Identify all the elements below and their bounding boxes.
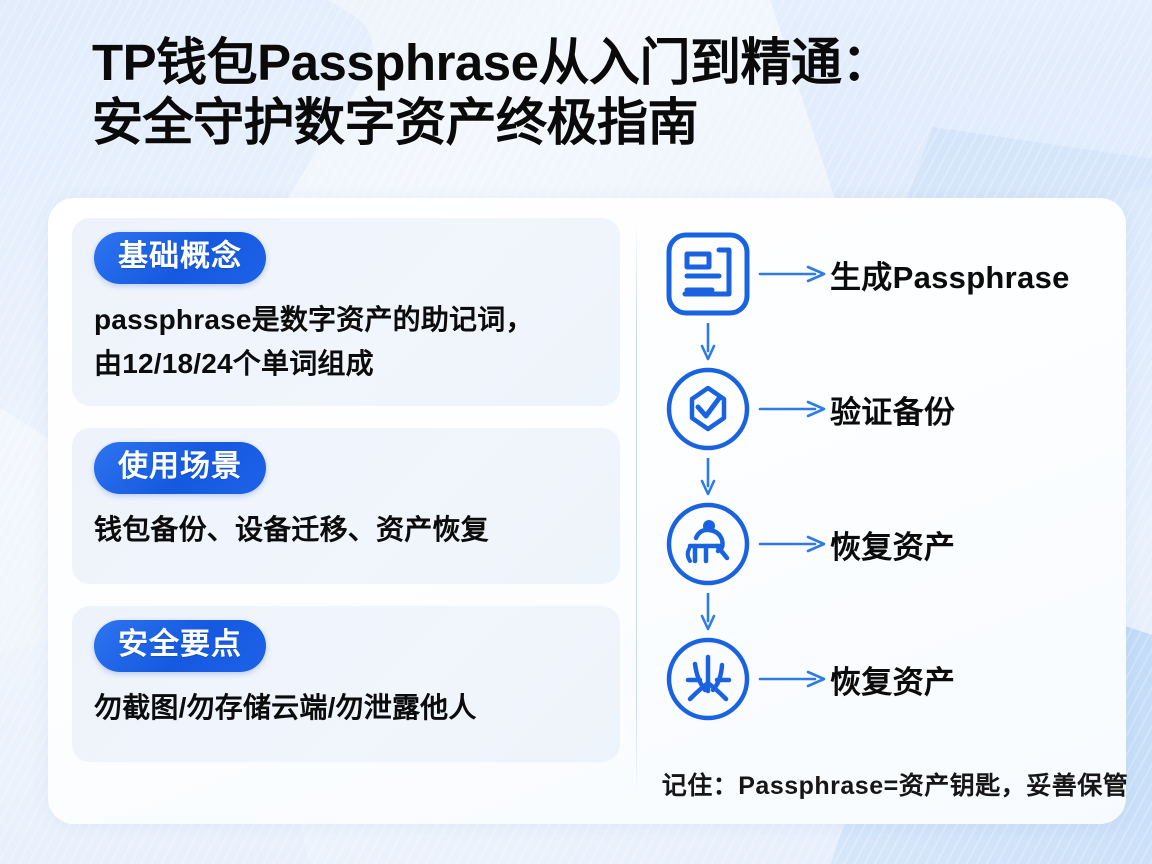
flow-step: 验证备份: [660, 361, 1110, 496]
shield-check-circle-icon: [660, 361, 756, 457]
card-security-tips: 安全要点 勿截图/勿存储云端/勿泄露他人: [72, 606, 620, 762]
card-use-cases: 使用场景 钱包备份、设备迁移、资产恢复: [72, 428, 620, 584]
document-lines-icon: [660, 226, 756, 322]
card-body: passphrase是数字资产的助记词， 由12/18/24个单词组成: [94, 298, 598, 386]
flow-arrow-icon: [756, 631, 830, 727]
card-body: 勿截图/勿存储云端/勿泄露他人: [94, 686, 598, 730]
title-line-1: TP钱包Passphrase从入门到精通：: [92, 33, 1102, 93]
card-body-line: 由12/18/24个单词组成: [94, 342, 598, 386]
flow-connector-arrow-icon: [698, 458, 718, 496]
page-title: TP钱包Passphrase从入门到精通： 安全守护数字资产终极指南: [92, 33, 1102, 153]
person-restore-circle-icon: [660, 496, 756, 592]
title-line-2: 安全守护数字资产终极指南: [92, 93, 1102, 153]
card-body-line: 钱包备份、设备迁移、资产恢复: [94, 508, 598, 552]
card-basic-concept: 基础概念 passphrase是数字资产的助记词， 由12/18/24个单词组成: [72, 218, 620, 406]
flow-step-label: 验证备份: [830, 361, 955, 457]
flow-step: 恢复资产: [660, 631, 1110, 766]
infographic-canvas: TP钱包Passphrase从入门到精通： 安全守护数字资产终极指南 基础概念 …: [0, 0, 1152, 864]
card-badge: 基础概念: [94, 232, 266, 284]
flow-step-label: 恢复资产: [830, 496, 955, 592]
flow-connector-arrow-icon: [698, 593, 718, 631]
flow-step: 恢复资产: [660, 496, 1110, 631]
flow-step-label: 生成Passphrase: [830, 226, 1070, 322]
sparkle-circle-icon: [660, 631, 756, 727]
content-panel: 基础概念 passphrase是数字资产的助记词， 由12/18/24个单词组成…: [48, 198, 1126, 824]
footer-note: 记住：Passphrase=资产钥匙，妥善保管: [660, 766, 1130, 802]
flow-arrow-icon: [756, 361, 830, 457]
card-badge: 安全要点: [94, 620, 266, 672]
flow-arrow-icon: [756, 226, 830, 322]
flow-arrow-icon: [756, 496, 830, 592]
card-body-line: passphrase是数字资产的助记词，: [94, 298, 598, 342]
cards-column: 基础概念 passphrase是数字资产的助记词， 由12/18/24个单词组成…: [72, 218, 620, 784]
card-body-line: 勿截图/勿存储云端/勿泄露他人: [94, 686, 598, 730]
flow-step: 生成Passphrase: [660, 226, 1110, 361]
flow-step-label: 恢复资产: [830, 631, 955, 727]
flow-connector-arrow-icon: [698, 323, 718, 361]
card-badge: 使用场景: [94, 442, 266, 494]
column-divider: [636, 220, 637, 800]
flow-diagram: 生成Passphrase: [660, 226, 1110, 766]
card-body: 钱包备份、设备迁移、资产恢复: [94, 508, 598, 552]
